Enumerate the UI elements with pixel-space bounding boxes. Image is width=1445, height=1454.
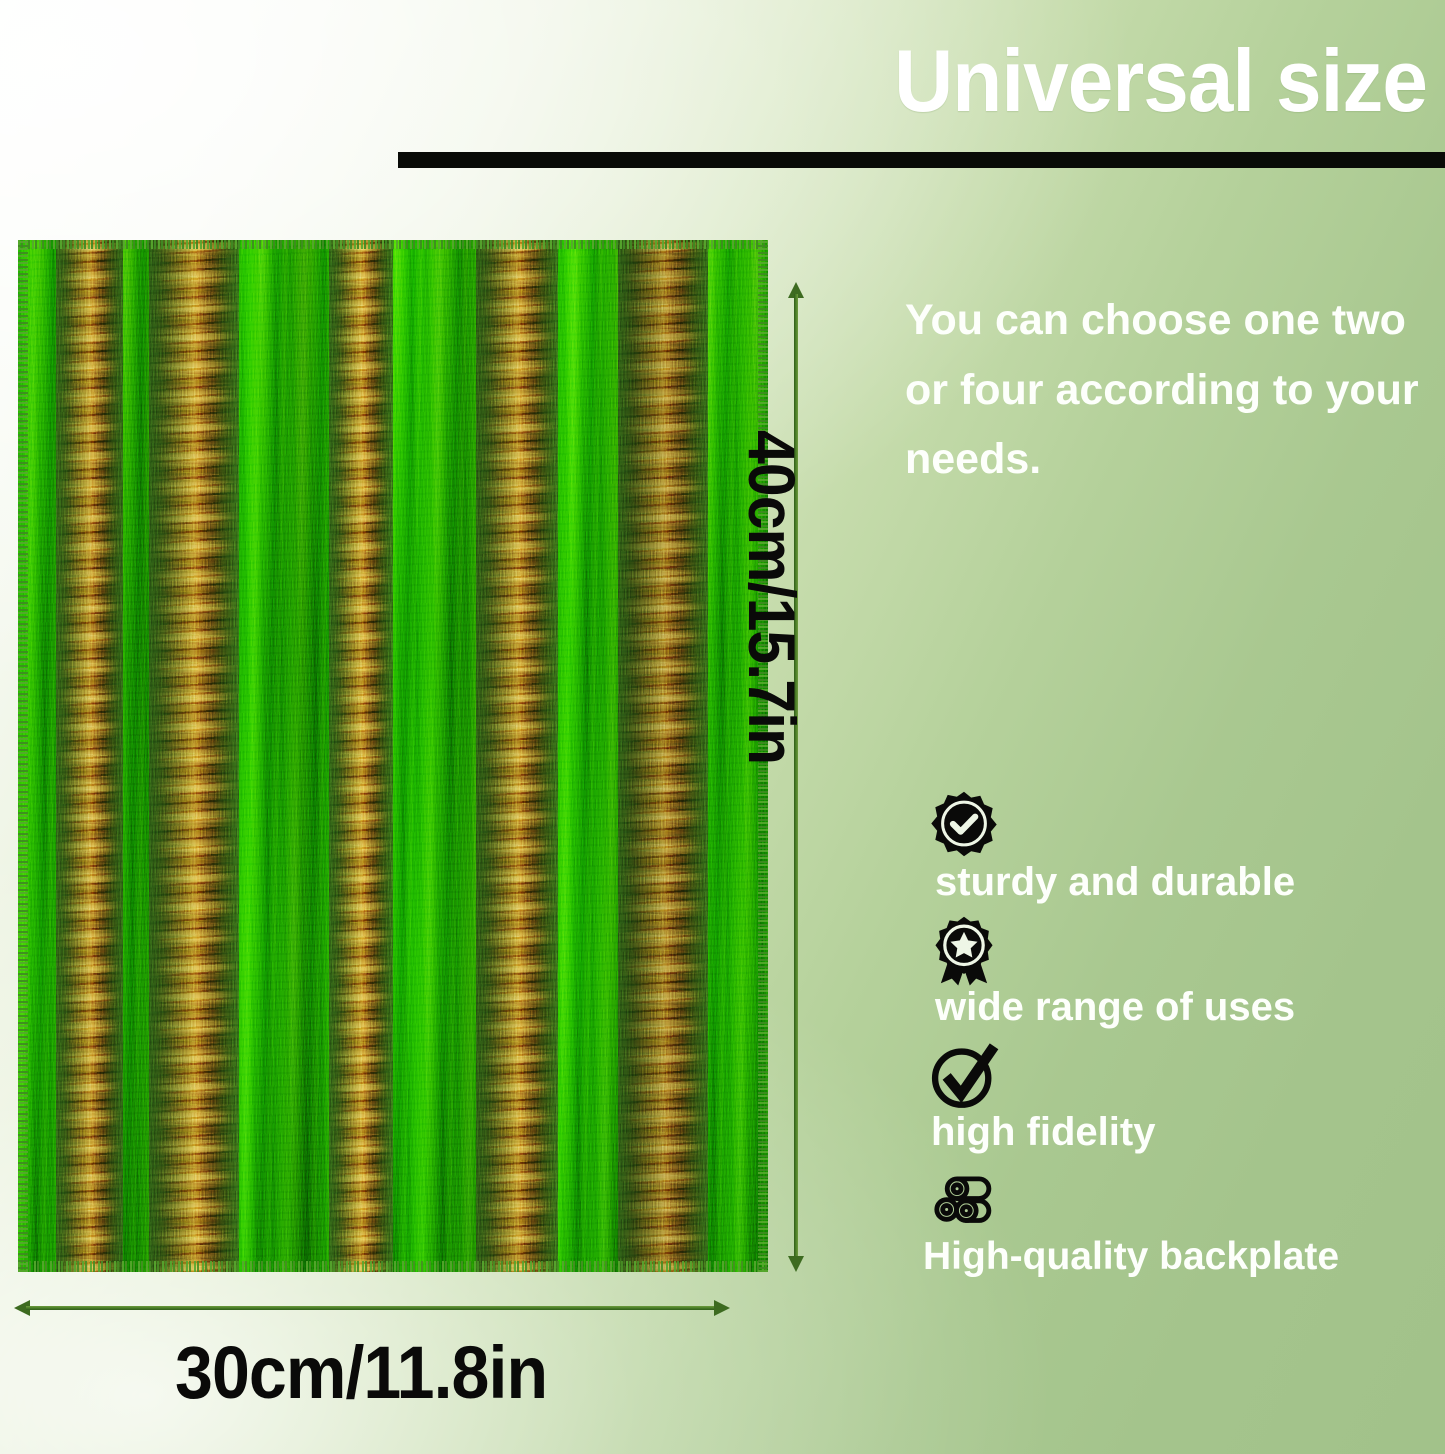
feature-label: High-quality backplate	[923, 1235, 1445, 1279]
feature-item: high fidelity	[905, 1040, 1445, 1155]
width-dimension-arrow	[14, 1300, 730, 1316]
award-ribbon-icon	[927, 915, 1001, 989]
arrow-shaft	[26, 1306, 718, 1310]
width-dimension-label: 30cm/11.8in	[175, 1330, 547, 1415]
description-text: You can choose one two or four according…	[905, 286, 1435, 495]
title-divider-rule	[398, 152, 1445, 168]
circle-check-icon	[927, 1040, 1001, 1114]
feature-label: wide range of uses	[935, 985, 1445, 1030]
moss-fiber-texture	[18, 240, 768, 1272]
feature-list: sturdy and durable wide range of uses	[905, 790, 1445, 1289]
product-infographic: Universal size 40cm/15.7in 30cm/11.8in	[0, 0, 1445, 1454]
height-dimension-label: 40cm/15.7in	[734, 430, 810, 764]
product-image	[18, 240, 768, 1272]
feature-item: sturdy and durable	[905, 790, 1445, 905]
badge-check-icon	[927, 790, 1001, 864]
arrow-head-down-icon	[788, 1256, 804, 1272]
feature-item: wide range of uses	[905, 915, 1445, 1030]
arrow-head-right-icon	[714, 1300, 730, 1316]
page-title: Universal size	[894, 36, 1427, 126]
feature-label: high fidelity	[931, 1110, 1445, 1155]
feature-item: High-quality backplate	[905, 1165, 1445, 1279]
feature-label: sturdy and durable	[935, 860, 1445, 905]
stacked-logs-icon	[927, 1165, 1001, 1239]
